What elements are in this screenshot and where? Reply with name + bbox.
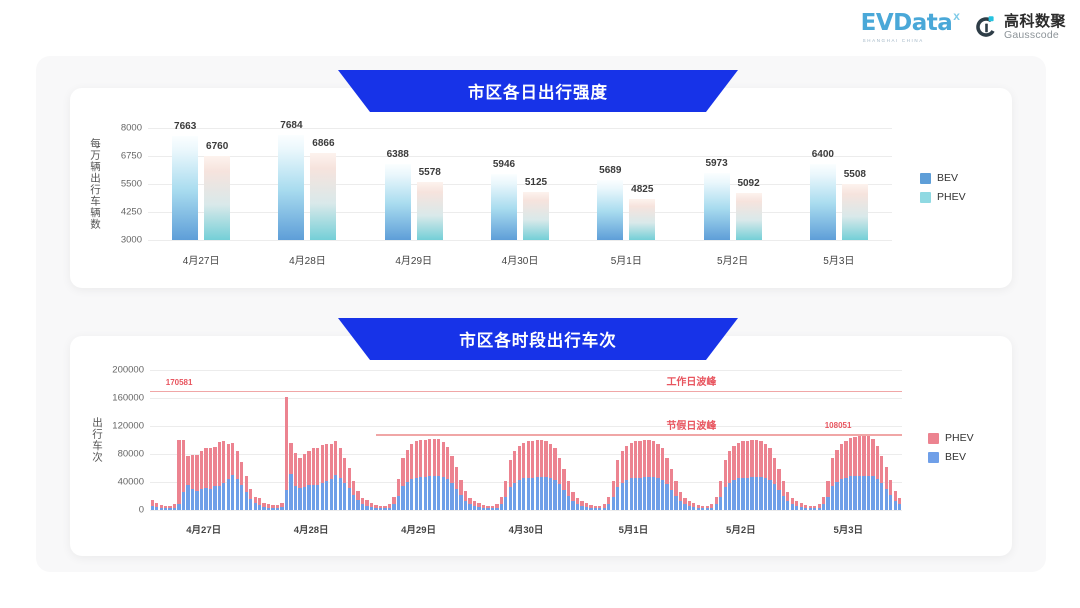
chart2-bar-segment-phev <box>442 442 445 477</box>
chart2-stacked-bar <box>607 497 610 510</box>
chart2-stacked-bar <box>594 506 597 510</box>
chart2-bar-segment-phev <box>571 492 574 501</box>
chart2-bar-segment-phev <box>867 434 870 475</box>
chart2-stacked-bar <box>383 506 386 510</box>
chart2-bar-segment-bev <box>352 495 355 510</box>
chart1-bar-phev <box>204 156 230 240</box>
chart2-bar-segment-phev <box>227 444 230 479</box>
chart2-bar-segment-bev <box>558 484 561 510</box>
chart2-stacked-bar <box>665 458 668 511</box>
chart2-stacked-bar <box>719 481 722 510</box>
chart2-bar-segment-phev <box>656 444 659 478</box>
chart2-stacked-bar <box>392 497 395 510</box>
chart2-bar-segment-bev <box>477 507 480 510</box>
chart1-bar-value: 5092 <box>737 178 759 189</box>
chart2-bar-segment-phev <box>294 453 297 486</box>
chart2-bar-segment-phev <box>307 451 310 485</box>
chart2-stacked-bar <box>880 456 883 510</box>
chart2-stacked-bar <box>576 498 579 510</box>
chart2-stacked-bar <box>701 506 704 510</box>
chart2-bar-segment-bev <box>728 483 731 510</box>
chart2-x-tick: 4月28日 <box>294 522 329 536</box>
chart2-stacked-bar <box>652 441 655 510</box>
chart2-stacked-bar <box>240 462 243 510</box>
chart2-bar-segment-phev <box>339 448 342 478</box>
chart2-bar-segment-phev <box>719 481 722 497</box>
chart2-bar-segment-bev <box>160 508 163 510</box>
chart2-bar-segment-phev <box>858 435 861 476</box>
chart2-stacked-bar <box>388 504 391 510</box>
chart1-gridline <box>148 128 892 129</box>
chart2-bar-segment-bev <box>227 479 230 511</box>
chart2-stacked-bar <box>630 443 633 510</box>
chart2-stacked-bar <box>791 498 794 510</box>
chart2-stacked-bar <box>715 497 718 510</box>
chart2-bar-segment-bev <box>468 504 471 510</box>
chart2-bar-segment-bev <box>719 497 722 510</box>
chart2-bar-segment-phev <box>634 441 637 477</box>
chart2-stacked-bar <box>151 500 154 511</box>
chart2-x-tick: 5月2日 <box>726 522 756 536</box>
chart2-bar-segment-phev <box>222 441 225 483</box>
chart2-bar-segment-bev <box>254 503 257 510</box>
chart2-stacked-bar <box>446 447 449 510</box>
chart2-stacked-bar <box>437 439 440 510</box>
chart2-bar-segment-bev <box>607 504 610 510</box>
chart2-stacked-bar <box>339 448 342 510</box>
chart2-stacked-bar <box>562 469 565 510</box>
chart2-stacked-bar <box>298 458 301 510</box>
chart1-bar-bev <box>172 136 198 240</box>
chart2-stacked-bar <box>674 481 677 510</box>
chart2-bar-segment-phev <box>527 441 530 477</box>
chart2-bar-segment-bev <box>732 480 735 510</box>
chart2-bar-segment-phev <box>459 480 462 495</box>
chart2-bar-segment-bev <box>459 495 462 510</box>
chart2-stacked-bar <box>365 500 368 510</box>
chart1-bar-value: 5508 <box>844 169 866 180</box>
chart2-bar-segment-bev <box>835 482 838 510</box>
chart2-stacked-bar <box>222 441 225 510</box>
chart2-bar-segment-phev <box>325 444 328 480</box>
chart2-bar-segment-bev <box>862 476 865 510</box>
chart1-legend-label: PHEV <box>937 191 966 203</box>
chart2-stacked-bar <box>647 440 650 510</box>
chart2-bar-segment-phev <box>562 469 565 490</box>
chart1-bar-phev <box>310 153 336 240</box>
chart2-bar-segment-bev <box>334 475 337 510</box>
evdata-logo-ev: EV <box>861 12 894 35</box>
chart1-gridline <box>148 212 892 213</box>
chart2-bar-segment-phev <box>303 454 306 487</box>
chart2-bar-segment-bev <box>168 508 171 510</box>
chart2-stacked-bar <box>209 448 212 510</box>
chart2-bar-segment-phev <box>831 458 834 486</box>
chart2-stacked-bar <box>195 455 198 510</box>
chart2-stacked-bar <box>683 498 686 510</box>
chart2-stacked-bar <box>464 491 467 510</box>
chart2-bar-segment-phev <box>840 444 843 479</box>
chart2-bar-segment-bev <box>670 490 673 510</box>
chart1-y-tick: 3000 <box>110 235 142 246</box>
chart2-stacked-bar <box>495 504 498 510</box>
chart2-bar-segment-bev <box>442 477 445 510</box>
chart2-bar-segment-phev <box>670 469 673 490</box>
chart2-bar-segment-bev <box>612 497 615 510</box>
chart2-bar-segment-bev <box>491 508 494 510</box>
chart2-bar-segment-phev <box>186 456 189 485</box>
chart2-x-tick: 4月30日 <box>509 522 544 536</box>
chart2-bar-segment-bev <box>151 506 154 510</box>
chart2-stacked-bar <box>558 458 561 511</box>
chart2-bar-segment-bev <box>177 504 180 510</box>
chart2-bar-segment-phev <box>424 440 427 477</box>
chart2-bar-segment-phev <box>835 450 838 482</box>
chart2-bar-segment-bev <box>567 496 570 510</box>
chart2-bar-segment-bev <box>706 508 709 510</box>
chart2-bar-segment-phev <box>352 481 355 495</box>
chart2-stacked-bar <box>258 498 261 510</box>
chart2-bar-segment-phev <box>513 451 516 483</box>
chart2-stacked-bar <box>876 446 879 510</box>
chart2-bar-segment-phev <box>182 440 185 492</box>
chart2-stacked-bar <box>491 506 494 510</box>
chart2-bar-segment-phev <box>240 462 243 485</box>
chart2-bar-segment-phev <box>334 441 337 475</box>
chart2-stacked-bar <box>580 501 583 510</box>
chart2-bar-segment-bev <box>715 504 718 510</box>
chart1-gridline <box>148 156 892 157</box>
chart2-stacked-bar <box>755 440 758 510</box>
chart2-bar-segment-phev <box>822 497 825 504</box>
chart2-bar-segment-bev <box>164 508 167 510</box>
chart2-bar-segment-phev <box>612 481 615 497</box>
chart2-y-tick: 120000 <box>104 421 144 432</box>
chart2-bar-segment-bev <box>786 501 789 510</box>
chart2-workday-peak-label: 工作日波峰 <box>666 373 716 388</box>
chart1-y-tick: 6750 <box>110 151 142 162</box>
chart2-bar-segment-phev <box>245 476 248 491</box>
chart1-bar-value: 5125 <box>525 177 547 188</box>
chart2-stacked-bar <box>356 491 359 510</box>
chart1-legend-item: BEV <box>920 172 966 184</box>
chart2-stacked-bar <box>486 506 489 510</box>
chart1-bar-phev <box>842 184 868 240</box>
chart2-stacked-bar <box>679 492 682 510</box>
chart2-stacked-bar <box>522 443 525 510</box>
chart2-stacked-bar <box>450 456 453 510</box>
chart2-bar-segment-phev <box>455 467 458 489</box>
chart2-stacked-bar <box>410 444 413 510</box>
chart2-bar-segment-bev <box>580 506 583 510</box>
chart2-bar-segment-bev <box>822 504 825 510</box>
chart2-bar-segment-bev <box>594 508 597 510</box>
chart2-bar-segment-phev <box>209 448 212 489</box>
chart2-bar-segment-phev <box>786 492 789 501</box>
chart2-stacked-bar <box>271 505 274 510</box>
chart2-stacked-bar <box>370 503 373 510</box>
chart1-bar-value: 6400 <box>812 149 834 160</box>
chart2-stacked-bar <box>688 501 691 510</box>
chart2-stacked-bar <box>294 453 297 510</box>
gausscode-mark-icon <box>974 15 998 39</box>
chart2-bar-segment-bev <box>527 478 530 510</box>
chart2-bar-segment-phev <box>450 456 453 483</box>
chart2-stacked-bar <box>849 438 852 510</box>
chart1-bar-value: 5578 <box>419 167 441 178</box>
chart2-bar-segment-bev <box>795 506 798 510</box>
chart2-holiday-peak-label: 节假日波峰 <box>666 417 716 432</box>
chart2-bar-segment-phev <box>437 439 440 476</box>
chart2-stacked-bar <box>513 451 516 510</box>
chart2-stacked-bar <box>540 440 543 510</box>
chart2-stacked-bar <box>267 504 270 510</box>
chart2-bar-segment-phev <box>737 443 740 479</box>
chart2-stacked-bar <box>276 505 279 510</box>
chart2-stacked-bar <box>625 446 628 510</box>
chart2-bar-segment-phev <box>236 451 239 480</box>
chart2-stacked-bar <box>612 481 615 510</box>
chart2-stacked-bar <box>809 506 812 510</box>
chart2-stacked-bar <box>840 444 843 510</box>
chart1-bar-phev <box>736 193 762 240</box>
chart2-bar-segment-bev <box>858 476 861 510</box>
chart2-stacked-bar <box>835 450 838 510</box>
chart2-bar-segment-phev <box>500 497 503 504</box>
chart2-bar-segment-bev <box>294 486 297 510</box>
chart2-bar-segment-bev <box>621 483 624 510</box>
chart2-legend-label: PHEV <box>945 432 974 444</box>
chart2-bar-segment-phev <box>213 447 216 486</box>
chart2-stacked-bar <box>549 444 552 511</box>
chart2-stacked-bar <box>227 444 230 511</box>
chart2-stacked-bar <box>670 469 673 510</box>
chart2-bar-segment-phev <box>195 455 198 491</box>
chart2-bar-segment-bev <box>813 508 816 510</box>
chart2-bar-segment-bev <box>450 483 453 510</box>
chart2-bar-segment-bev <box>800 507 803 510</box>
chart2-bar-segment-phev <box>750 440 753 477</box>
chart2-bar-segment-phev <box>764 444 767 478</box>
chart2-bar-segment-bev <box>737 478 740 510</box>
chart2-bar-segment-phev <box>732 446 735 480</box>
chart2-bar-segment-bev <box>652 477 655 510</box>
chart2-stacked-bar <box>231 443 234 510</box>
chart2-bar-segment-phev <box>616 460 619 487</box>
chart2-bar-segment-phev <box>885 467 888 489</box>
chart2-bar-segment-bev <box>885 489 888 510</box>
chart2-bar-segment-bev <box>343 483 346 510</box>
chart1-bar-value: 5946 <box>493 159 515 170</box>
chart2-stacked-bar <box>571 492 574 510</box>
chart1-bar-value: 4825 <box>631 184 653 195</box>
chart2-stacked-bar <box>415 441 418 510</box>
chart2-bar-segment-phev <box>464 491 467 501</box>
chart2-bar-segment-bev <box>204 488 207 510</box>
chart2-bar-segment-bev <box>186 485 189 510</box>
chart2-bar-segment-phev <box>312 448 315 484</box>
chart2-stacked-bar <box>442 442 445 510</box>
chart2-stacked-bar <box>433 439 436 510</box>
chart2-bar-segment-bev <box>643 477 646 510</box>
chart2-stacked-bar <box>182 440 185 510</box>
chart1-gridline <box>148 184 892 185</box>
chart2-bar-segment-bev <box>616 487 619 510</box>
chart2-bar-segment-bev <box>826 497 829 510</box>
chart2-bar-segment-bev <box>585 507 588 510</box>
chart2-legend-label: BEV <box>945 451 966 463</box>
chart2-bar-segment-bev <box>218 486 221 510</box>
slide-page: EV Data x SHANGHAI CHINA 高科数聚 Gausscode <box>0 0 1080 608</box>
chart2-bar-segment-phev <box>853 437 856 476</box>
chart2-bar-segment-bev <box>356 500 359 510</box>
chart2-bar-segment-bev <box>831 486 834 510</box>
chart2-bar-segment-bev <box>540 477 543 510</box>
chart2-bar-segment-bev <box>231 475 234 510</box>
chart2-stacked-bar <box>853 437 856 510</box>
evdata-logo-tagline: SHANGHAI CHINA <box>861 38 924 43</box>
chart2-stacked-bar <box>746 441 749 510</box>
chart2-bar-segment-bev <box>240 485 243 510</box>
chart2-bar-segment-bev <box>880 483 883 510</box>
chart2-workday-peak-value: 170581 <box>166 378 193 387</box>
chart2-bar-segment-bev <box>182 492 185 510</box>
chart2-bar-segment-phev <box>558 458 561 485</box>
chart2-stacked-bar <box>638 441 641 510</box>
chart2-bar-segment-phev <box>258 498 261 505</box>
chart2-stacked-bar <box>477 503 480 510</box>
chart2-stacked-bar <box>312 448 315 510</box>
hourly-trips-chart: 出行车次040000800001200001600002000004月27日4月… <box>70 336 1012 556</box>
chart1-bar-bev <box>597 180 623 240</box>
chart2-stacked-bar <box>168 506 171 510</box>
chart2-bar-segment-bev <box>853 476 856 510</box>
chart2-stacked-bar <box>531 441 534 510</box>
chart2-bar-segment-bev <box>392 504 395 510</box>
chart2-bar-segment-bev <box>271 508 274 510</box>
chart1-bar-phev <box>417 182 443 240</box>
chart2-bar-segment-phev <box>782 481 785 496</box>
chart2-stacked-bar <box>482 505 485 510</box>
chart2-stacked-bar <box>424 440 427 510</box>
gausscode-logo-cn: 高科数聚 <box>1004 14 1066 30</box>
chart2-bar-segment-phev <box>343 458 346 483</box>
chart1-x-tick: 5月3日 <box>823 252 854 267</box>
chart2-stacked-bar <box>831 458 834 510</box>
chart1-bar-value: 7663 <box>174 121 196 132</box>
chart2-stacked-bar <box>200 451 203 511</box>
chart2-bar-segment-bev <box>312 485 315 510</box>
chart2-bar-segment-phev <box>410 444 413 479</box>
chart2-bar-segment-phev <box>715 497 718 504</box>
chart1-gridline <box>148 240 892 241</box>
chart2-bar-segment-bev <box>486 508 489 510</box>
chart2-bar-segment-bev <box>603 508 606 510</box>
chart2-stacked-bar <box>741 441 744 510</box>
chart2-bar-segment-bev <box>750 477 753 510</box>
chart2-bar-segment-bev <box>379 508 382 510</box>
gausscode-logo-en: Gausscode <box>1004 30 1066 41</box>
chart2-bar-segment-bev <box>370 507 373 510</box>
chart2-bar-segment-phev <box>406 450 409 482</box>
chart2-stacked-bar <box>325 444 328 510</box>
chart2-bar-segment-bev <box>661 480 664 510</box>
chart2-bar-segment-phev <box>540 440 543 477</box>
chart2-bar-segment-bev <box>876 479 879 510</box>
chart2-bar-segment-bev <box>674 496 677 510</box>
chart2-bar-segment-bev <box>576 504 579 510</box>
chart2-bar-segment-phev <box>321 445 324 484</box>
chart2-y-tick: 160000 <box>104 393 144 404</box>
chart2-bar-segment-bev <box>746 478 749 510</box>
chart2-bar-segment-bev <box>638 478 641 510</box>
chart2-bar-segment-phev <box>509 460 512 487</box>
chart2-workday-peak-line <box>150 391 902 393</box>
chart2-bar-segment-phev <box>849 438 852 477</box>
chart1-bar-value: 5973 <box>705 158 727 169</box>
chart2-gridline <box>150 426 902 427</box>
chart2-bar-segment-phev <box>392 497 395 504</box>
chart2-stacked-bar <box>844 441 847 510</box>
chart2-bar-segment-bev <box>665 484 668 510</box>
chart2-stacked-bar <box>826 481 829 510</box>
chart2-stacked-bar <box>280 503 283 510</box>
chart2-bar-segment-phev <box>553 448 556 480</box>
chart2-bar-segment-phev <box>522 443 525 479</box>
chart2-stacked-bar <box>455 467 458 510</box>
chart2-bar-segment-bev <box>818 508 821 510</box>
chart2-bar-segment-bev <box>388 508 391 510</box>
chart1-legend-label: BEV <box>937 172 958 184</box>
chart1-legend-item: PHEV <box>920 191 966 203</box>
chart2-bar-segment-phev <box>249 489 252 499</box>
chart2-bar-segment-phev <box>218 442 221 486</box>
chart2-bar-segment-phev <box>621 451 624 483</box>
chart2-bar-segment-bev <box>361 504 364 510</box>
chart2-bar-segment-bev <box>724 487 727 510</box>
chart2-bar-segment-phev <box>755 440 758 477</box>
chart2-bar-segment-bev <box>536 477 539 510</box>
chart2-bar-segment-bev <box>173 508 176 510</box>
chart2-stacked-bar <box>795 501 798 510</box>
chart2-x-tick: 5月3日 <box>833 522 863 536</box>
chart2-bar-segment-bev <box>428 476 431 510</box>
chart2-bar-segment-bev <box>656 478 659 510</box>
hourly-trips-card: 出行车次040000800001200001600002000004月27日4月… <box>70 336 1012 556</box>
chart2-stacked-bar <box>867 434 870 510</box>
chart2-stacked-bar <box>656 444 659 511</box>
chart2-bar-segment-phev <box>428 439 431 477</box>
chart2-stacked-bar <box>786 492 789 510</box>
chart2-y-tick: 40000 <box>104 477 144 488</box>
chart2-bar-segment-bev <box>262 507 265 510</box>
chart2-stacked-bar <box>737 443 740 510</box>
chart2-stacked-bar <box>889 480 892 510</box>
chart1-bar-phev <box>523 192 549 240</box>
chart2-bar-segment-bev <box>692 507 695 510</box>
chart2-bar-segment-bev <box>764 478 767 510</box>
chart2-bar-segment-bev <box>741 478 744 510</box>
chart2-bar-segment-bev <box>258 505 261 510</box>
chart2-stacked-bar <box>643 440 646 510</box>
chart2-bar-segment-bev <box>509 487 512 510</box>
chart2-stacked-bar <box>710 504 713 510</box>
chart2-legend-swatch <box>928 452 939 463</box>
chart1-bar-bev <box>278 135 304 240</box>
chart2-bar-segment-bev <box>446 479 449 510</box>
chart2-bar-segment-bev <box>647 477 650 510</box>
chart2-bar-segment-bev <box>773 484 776 510</box>
